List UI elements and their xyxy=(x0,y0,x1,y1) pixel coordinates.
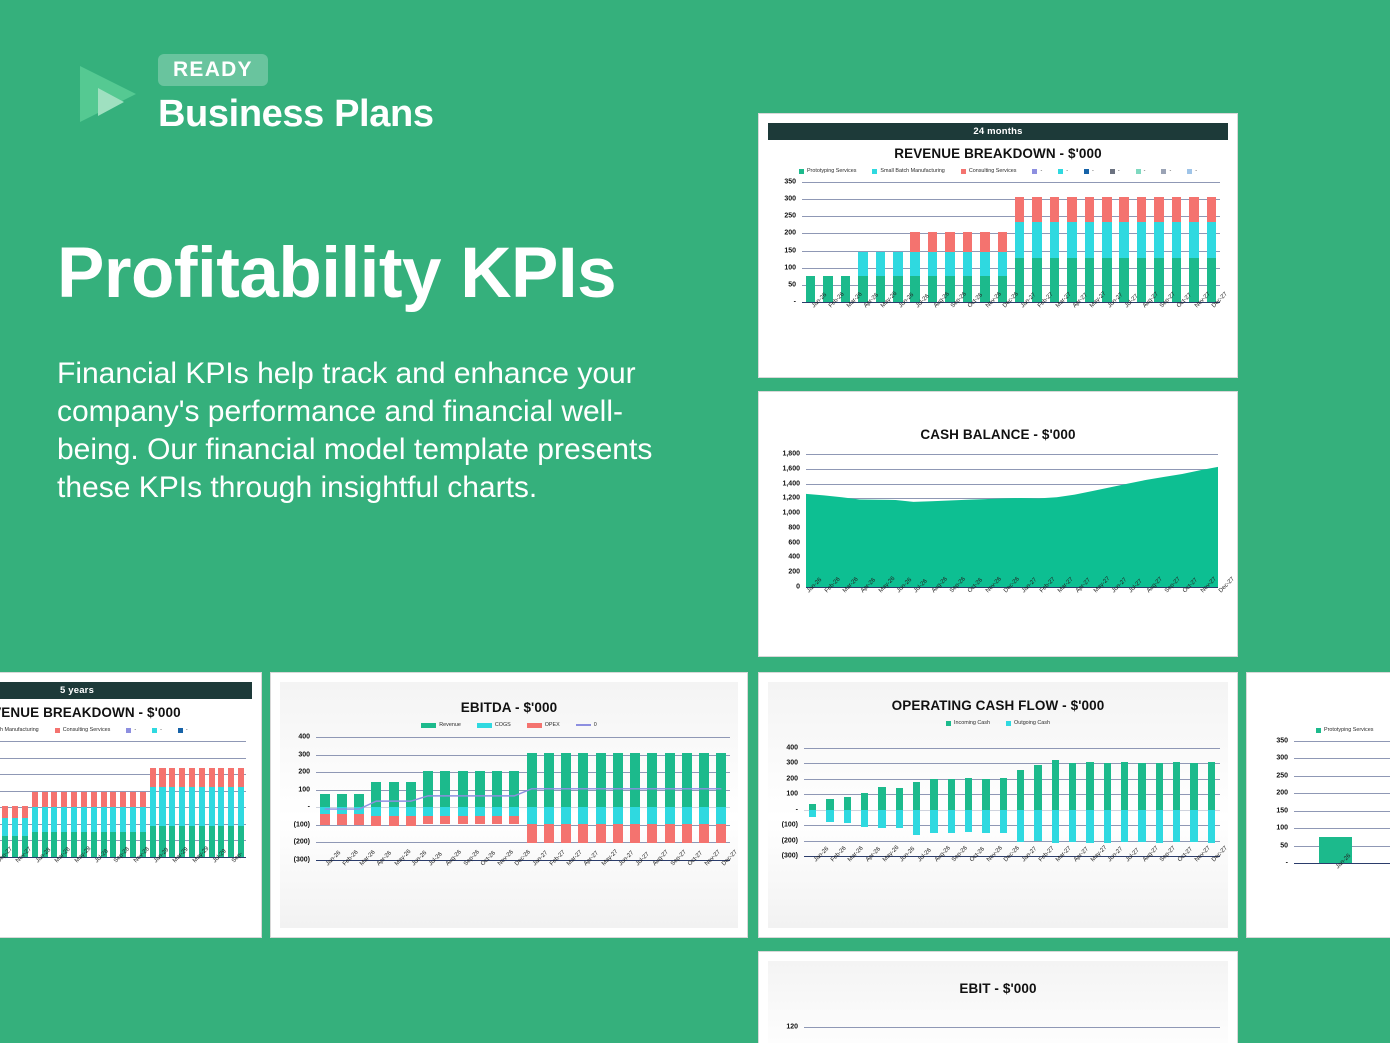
chart-bar-segment xyxy=(561,807,571,824)
chart-bar-segment xyxy=(423,816,433,824)
legend-item[interactable]: Prototyping Services xyxy=(799,168,856,174)
chart-bar-segment xyxy=(1208,810,1215,843)
chart-bar-segment xyxy=(1052,760,1059,809)
legend-color-swatch xyxy=(477,723,492,728)
chart-bar-segment xyxy=(1104,810,1111,843)
chart-bar-segment xyxy=(91,807,97,832)
y-axis-tick-label: 200 xyxy=(1256,790,1288,797)
chart-bar-segment xyxy=(878,787,885,810)
x-axis-tick-label: Mar-27 xyxy=(566,850,584,868)
panel-revenue-breakdown-24months[interactable]: 24 months REVENUE BREAKDOWN - $'000 Prot… xyxy=(758,113,1238,378)
chart-bar-segment xyxy=(613,807,623,824)
legend-item[interactable]: Prototyping Services xyxy=(1316,727,1373,733)
x-axis-tick-label: Apr-27 xyxy=(583,850,600,867)
chart-bar-segment xyxy=(12,818,18,835)
chart-bar-segment xyxy=(876,252,886,276)
panel-revenue-breakdown-partial[interactable]: Prototyping Services -501001502002503003… xyxy=(1246,672,1390,938)
chart-plot-revenue-5y: -27Mar-27May-27Jul-27Sep-27Nov-27Jan-28M… xyxy=(0,735,252,903)
chart-bar-segment xyxy=(945,252,955,276)
legend-label: - xyxy=(1169,168,1171,174)
chart-bar-segment xyxy=(209,826,215,857)
chart-bar-segment xyxy=(120,807,126,832)
legend-color-swatch xyxy=(55,728,60,733)
chart-bar-segment xyxy=(596,824,606,843)
chart-bar-segment xyxy=(561,753,571,807)
y-axis-tick-label: (200) xyxy=(280,839,310,846)
chart-bar-segment xyxy=(42,792,48,807)
x-axis-tick-label: Mar-27 xyxy=(1055,846,1073,864)
chart-gridline xyxy=(1294,758,1390,759)
chart-gridline xyxy=(1294,776,1390,777)
chart-bar-segment xyxy=(406,816,416,826)
legend-item[interactable]: - xyxy=(1136,168,1146,174)
chart-bar-segment xyxy=(963,252,973,276)
legend-item[interactable]: OPEX xyxy=(527,722,560,728)
chart-bar-segment xyxy=(199,768,205,788)
legend-label: - xyxy=(1118,168,1120,174)
chart-bar-segment xyxy=(647,807,657,824)
legend-item[interactable]: Revenue xyxy=(421,722,461,728)
legend-item[interactable]: Consulting Services xyxy=(961,168,1017,174)
chart-bar-segment xyxy=(1000,778,1007,810)
x-axis-tick-label: Dec-26 xyxy=(514,849,532,867)
y-axis-tick-label: 350 xyxy=(1256,738,1288,745)
legend-line-swatch xyxy=(576,724,591,726)
legend-color-swatch xyxy=(1316,728,1321,733)
x-axis-tick-label: Jan-27 xyxy=(1021,846,1038,863)
chart-bar-segment xyxy=(806,276,816,302)
chart-bar-segment xyxy=(71,792,77,807)
chart-bar-segment xyxy=(596,807,606,824)
legend-item[interactable]: Consulting Services xyxy=(55,727,111,733)
chart-bar-segment xyxy=(110,807,116,832)
chart-bar-segment xyxy=(509,816,519,824)
chart-bar-segment xyxy=(682,824,692,843)
chart-title-revenue-5y: REVENUE BREAKDOWN - $'000 xyxy=(0,705,252,720)
y-axis-tick-label: 400 xyxy=(768,745,798,752)
chart-bar-segment xyxy=(1207,222,1217,258)
panel-cash-balance[interactable]: CASH BALANCE - $'000 02004006008001,0001… xyxy=(758,391,1238,657)
chart-bar-segment xyxy=(630,753,640,807)
chart-gridline xyxy=(804,748,1220,749)
chart-bar-segment xyxy=(527,753,537,807)
legend-item[interactable]: - xyxy=(1187,168,1197,174)
chart-bar-segment xyxy=(980,232,990,252)
chart-bar-segment xyxy=(509,807,519,815)
chart-bar-segment xyxy=(613,753,623,807)
x-axis-tick-label: Jun-26 xyxy=(411,850,428,867)
legend-label: - xyxy=(1144,168,1146,174)
chart-gridline xyxy=(0,758,246,759)
x-axis-tick-label: Sep-26 xyxy=(951,845,969,863)
legend-label: Consulting Services xyxy=(969,168,1017,174)
chart-bar-segment xyxy=(12,836,18,857)
legend-item[interactable]: Small Batch Manufacturing xyxy=(0,727,39,733)
y-axis-tick-label: 200 xyxy=(768,775,798,782)
chart-bar-segment xyxy=(61,807,67,832)
legend-label: Prototyping Services xyxy=(807,168,856,174)
chart-bar-segment xyxy=(406,807,416,815)
chart-bar-segment xyxy=(150,787,156,825)
chart-bar-segment xyxy=(1172,222,1182,258)
legend-label: Consulting Services xyxy=(63,727,111,733)
chart-bar-segment xyxy=(238,787,244,825)
chart-bar-segment xyxy=(458,816,468,824)
legend-label: Revenue xyxy=(439,722,461,728)
legend-item[interactable]: - xyxy=(178,727,188,733)
legend-color-swatch xyxy=(1084,169,1089,174)
chart-bar-segment xyxy=(492,771,502,807)
chart-bar-segment xyxy=(613,824,623,843)
chart-bar-segment xyxy=(1000,810,1007,833)
chart-bar-segment xyxy=(32,807,38,832)
legend-item[interactable]: - xyxy=(1161,168,1171,174)
chart-bar-segment xyxy=(492,807,502,815)
chart-bar-segment xyxy=(896,810,903,828)
chart-bar-segment xyxy=(1119,197,1129,222)
period-label-24-months: 24 months xyxy=(768,123,1228,140)
x-axis-tick-label: Jan-26 xyxy=(325,850,342,867)
legend-item[interactable]: - xyxy=(126,727,136,733)
chart-bar-segment xyxy=(406,782,416,807)
chart-bar-segment xyxy=(1015,197,1025,222)
chart-bar-segment xyxy=(51,792,57,807)
chart-plot-ebit: 80100120Jan-27Feb-27Mar-27Apr-27May-27Ju… xyxy=(768,978,1228,1043)
chart-bar-segment xyxy=(913,810,920,835)
chart-bar-segment xyxy=(423,771,433,807)
hero-body-text: Financial KPIs help track and enhance yo… xyxy=(57,355,657,507)
chart-plot-cash-balance: 02004006008001,0001,2001,4001,6001,800Ja… xyxy=(768,450,1228,635)
panel-ebit[interactable]: EBIT - $'000 80100120Jan-27Feb-27Mar-27A… xyxy=(758,951,1238,1043)
chart-bar-segment xyxy=(982,810,989,833)
chart-bar-segment xyxy=(130,832,136,857)
chart-bar-segment xyxy=(578,807,588,824)
y-axis-tick-label: - xyxy=(280,804,310,811)
y-axis-tick-label: 250 xyxy=(1256,772,1288,779)
y-axis-tick-label: (100) xyxy=(768,822,798,829)
chart-bar-segment xyxy=(699,807,709,824)
x-axis-tick-label: Feb-27 xyxy=(549,850,567,868)
x-axis-tick-label: Jan-27 xyxy=(532,850,549,867)
chart-bar-segment xyxy=(716,753,726,807)
x-axis-tick-label: Dec-27 xyxy=(1211,845,1229,863)
chart-bar-segment xyxy=(930,779,937,810)
chart-gridline xyxy=(316,737,730,738)
x-axis-tick-label: Aug-27 xyxy=(1142,845,1160,863)
y-axis-tick-label: (200) xyxy=(768,837,798,844)
chart-bar-segment xyxy=(101,792,107,807)
legend-item[interactable]: 0 xyxy=(576,722,597,728)
legend-label: - xyxy=(134,727,136,733)
y-axis-tick-label: (300) xyxy=(280,857,310,864)
legend-color-swatch xyxy=(1058,169,1063,174)
x-axis-tick-label: Sep-27 xyxy=(670,849,688,867)
x-axis-tick-label: Nov-26 xyxy=(497,849,515,867)
chart-bar-segment xyxy=(1173,762,1180,810)
x-axis-tick-label: Aug-26 xyxy=(934,845,952,863)
chart-bar-segment xyxy=(91,792,97,807)
chart-bar-segment xyxy=(354,814,364,825)
chart-bar-segment xyxy=(492,816,502,824)
chart-bar-segment xyxy=(389,816,399,826)
x-axis-tick-label: Jun-26 xyxy=(899,846,916,863)
y-axis-tick-label: 150 xyxy=(1256,807,1288,814)
chart-bar-segment xyxy=(337,814,347,825)
chart-bar-segment xyxy=(965,810,972,833)
chart-bar-segment xyxy=(578,753,588,807)
chart-bar-segment xyxy=(228,787,234,825)
chart-bar-segment xyxy=(42,807,48,832)
y-axis-tick-label: 150 xyxy=(768,247,796,254)
chart-gridline xyxy=(0,741,246,742)
chart-bar-segment xyxy=(189,787,195,825)
chart-plot-ebitda: (300)(200)(100)-100200300400Jan-26Feb-26… xyxy=(280,731,738,906)
chart-bar-segment xyxy=(320,807,330,814)
chart-bar-segment xyxy=(1085,197,1095,222)
chart-bar-segment xyxy=(596,753,606,807)
x-axis-tick-label: Sep-26 xyxy=(463,849,481,867)
chart-bar-segment xyxy=(51,832,57,857)
chart-bar-segment xyxy=(1085,222,1095,258)
legend-label: - xyxy=(1092,168,1094,174)
chart-bar-segment xyxy=(169,787,175,825)
x-axis-tick-label: Jun-27 xyxy=(618,850,635,867)
x-axis-tick-label: Oct-26 xyxy=(969,846,986,863)
chart-bar-segment xyxy=(81,807,87,832)
chart-bar-segment xyxy=(1138,763,1145,810)
x-axis-tick-label: Feb-27 xyxy=(1038,846,1056,864)
chart-bar-segment xyxy=(948,779,955,810)
x-axis-tick-label: Apr-26 xyxy=(376,850,393,867)
chart-bar-segment xyxy=(475,771,485,807)
chart-bar-segment xyxy=(1173,810,1180,842)
chart-bar-segment xyxy=(1189,197,1199,222)
legend-color-swatch xyxy=(1161,169,1166,174)
chart-bar-segment xyxy=(1190,810,1197,843)
chart-bar-segment xyxy=(527,807,537,824)
legend-item[interactable]: - xyxy=(1032,168,1042,174)
legend-color-swatch xyxy=(1136,169,1141,174)
x-axis-tick-label: Nov-27 xyxy=(704,849,722,867)
legend-item[interactable]: Small Batch Manufacturing xyxy=(872,168,944,174)
legend-label: - xyxy=(1195,168,1197,174)
chart-bar-segment xyxy=(2,818,8,835)
y-axis-tick-label: - xyxy=(768,806,798,813)
x-axis-tick-label: Aug-27 xyxy=(652,849,670,867)
y-axis-tick-label: 50 xyxy=(1256,842,1288,849)
cash-balance-area-series xyxy=(768,450,1228,635)
y-axis-tick-label: 50 xyxy=(768,281,796,288)
chart-bar-segment xyxy=(1086,810,1093,843)
x-axis-tick-label: Feb-26 xyxy=(830,846,848,864)
chart-bar-segment xyxy=(928,252,938,276)
y-axis-tick-label: 100 xyxy=(768,264,796,271)
chart-bar-segment xyxy=(844,810,851,823)
x-axis-tick-label: Mar-26 xyxy=(359,850,377,868)
play-triangle-icon xyxy=(72,58,144,130)
chart-bar-segment xyxy=(320,794,330,807)
chart-legend-revenue-24m: Prototyping ServicesSmall Batch Manufact… xyxy=(768,168,1228,174)
legend-label: Small Batch Manufacturing xyxy=(0,727,39,733)
chart-bar-segment xyxy=(930,810,937,833)
chart-bar-segment xyxy=(150,768,156,788)
legend-item[interactable]: - xyxy=(1110,168,1120,174)
chart-bar-segment xyxy=(371,782,381,807)
chart-bar-segment xyxy=(159,787,165,825)
chart-bar-segment xyxy=(1086,762,1093,810)
chart-bar-segment xyxy=(1015,222,1025,258)
chart-bar-segment xyxy=(998,232,1008,252)
legend-color-swatch xyxy=(1187,169,1192,174)
chart-bar-segment xyxy=(91,832,97,857)
chart-bar-segment xyxy=(1119,222,1129,258)
chart-bar-segment xyxy=(389,807,399,815)
x-axis-tick-label: Dec-27 xyxy=(721,849,739,867)
chart-bar-segment xyxy=(630,807,640,824)
chart-bar-segment xyxy=(878,810,885,828)
chart-bar-segment xyxy=(179,768,185,788)
chart-bar-segment xyxy=(354,794,364,807)
chart-bar-segment xyxy=(965,778,972,810)
legend-color-swatch xyxy=(126,728,131,733)
chart-gridline xyxy=(1294,828,1390,829)
chart-bar-segment xyxy=(826,799,833,810)
chart-bar-segment xyxy=(893,252,903,276)
chart-bar-segment xyxy=(475,807,485,815)
chart-bar-segment xyxy=(32,832,38,857)
panel-operating-cash-flow[interactable]: OPERATING CASH FLOW - $'000 Incoming Cas… xyxy=(758,672,1238,938)
panel-ebitda[interactable]: EBITDA - $'000 RevenueCOGSOPEX0 (300)(20… xyxy=(270,672,748,938)
legend-item[interactable]: - xyxy=(1058,168,1068,174)
chart-bar-segment xyxy=(1189,222,1199,258)
chart-bar-segment xyxy=(440,771,450,807)
chart-bar-segment xyxy=(1154,222,1164,258)
chart-bar-segment xyxy=(1190,763,1197,809)
y-axis-tick-label: 100 xyxy=(280,786,310,793)
y-axis-tick-label: 350 xyxy=(768,179,796,186)
chart-bar-segment xyxy=(440,807,450,815)
legend-color-swatch xyxy=(799,169,804,174)
legend-label: Small Batch Manufacturing xyxy=(880,168,944,174)
chart-legend-partial: Prototyping Services xyxy=(1256,727,1390,733)
chart-bar-segment xyxy=(1138,810,1145,843)
chart-bar-segment xyxy=(159,768,165,788)
chart-bar-segment xyxy=(561,824,571,843)
chart-bar-segment xyxy=(475,816,485,824)
legend-label: - xyxy=(186,727,188,733)
x-axis-tick-label: Apr-27 xyxy=(1073,846,1090,863)
chart-bar-segment xyxy=(1067,222,1077,258)
chart-bar-segment xyxy=(1137,222,1147,258)
legend-color-swatch xyxy=(961,169,966,174)
chart-bar-segment xyxy=(130,807,136,832)
panel-revenue-breakdown-5years[interactable]: 5 years REVENUE BREAKDOWN - $'000 Small … xyxy=(0,672,262,938)
legend-color-swatch xyxy=(152,728,157,733)
chart-gridline xyxy=(1294,741,1390,742)
chart-bar-segment xyxy=(1102,222,1112,258)
x-axis-tick-label: Oct-27 xyxy=(1177,846,1194,863)
chart-bar-segment xyxy=(189,826,195,857)
chart-legend-ebitda: RevenueCOGSOPEX0 xyxy=(280,722,738,728)
chart-bar-segment xyxy=(699,753,709,807)
chart-bar-segment xyxy=(682,753,692,807)
chart-bar-segment xyxy=(2,806,8,818)
chart-bar-segment xyxy=(199,787,205,825)
chart-bar-segment xyxy=(218,768,224,788)
chart-bar-segment xyxy=(716,807,726,824)
chart-bar-segment xyxy=(1032,197,1042,222)
legend-color-swatch xyxy=(178,728,183,733)
chart-bar-segment xyxy=(354,807,364,814)
chart-bar-segment xyxy=(716,824,726,843)
legend-color-swatch xyxy=(1032,169,1037,174)
y-axis-tick-label: 100 xyxy=(768,791,798,798)
chart-bar-segment xyxy=(458,807,468,815)
chart-bar-segment xyxy=(1050,197,1060,222)
legend-item[interactable]: - xyxy=(1084,168,1094,174)
chart-title-cash-balance: CASH BALANCE - $'000 xyxy=(768,427,1228,442)
y-axis-tick-label: 400 xyxy=(280,734,310,741)
chart-bar-segment xyxy=(910,252,920,276)
chart-bar-segment xyxy=(209,768,215,788)
chart-bar-segment xyxy=(1032,222,1042,258)
y-axis-tick-label: 200 xyxy=(280,769,310,776)
chart-bar-segment xyxy=(150,826,156,857)
x-axis-tick-label: Aug-26 xyxy=(445,849,463,867)
chart-bar-segment xyxy=(320,814,330,825)
chart-bar-segment xyxy=(665,824,675,843)
chart-bar-segment xyxy=(140,807,146,832)
chart-bar-segment xyxy=(1121,762,1128,810)
y-axis-tick-label: (300) xyxy=(768,853,798,860)
y-axis-tick-label: - xyxy=(768,299,796,306)
legend-item[interactable]: COGS xyxy=(477,722,511,728)
y-axis-tick-label: - xyxy=(1256,860,1288,867)
chart-bar-segment xyxy=(945,232,955,252)
chart-bar-segment xyxy=(826,810,833,822)
x-axis-tick-label: Dec-26 xyxy=(1003,845,1021,863)
chart-bar-segment xyxy=(1017,810,1024,843)
legend-color-swatch xyxy=(1110,169,1115,174)
legend-item[interactable]: - xyxy=(152,727,162,733)
chart-bar-segment xyxy=(169,768,175,788)
chart-bar-segment xyxy=(544,824,554,843)
period-label-5-years: 5 years xyxy=(0,682,252,699)
chart-bar-segment xyxy=(913,782,920,809)
chart-bar-segment xyxy=(169,826,175,857)
chart-bar-segment xyxy=(71,832,77,857)
legend-color-swatch xyxy=(872,169,877,174)
legend-label: - xyxy=(160,727,162,733)
chart-bar-segment xyxy=(578,824,588,843)
chart-bar-segment xyxy=(209,787,215,825)
chart-bar-segment xyxy=(423,807,433,815)
x-axis-tick-label: May-27 xyxy=(1090,845,1108,863)
legend-color-swatch xyxy=(527,723,542,728)
chart-bar-segment xyxy=(647,824,657,843)
chart-bar-segment xyxy=(1154,197,1164,222)
chart-bar-segment xyxy=(371,816,381,826)
chart-bar-segment xyxy=(337,794,347,807)
legend-label: Prototyping Services xyxy=(1324,727,1373,733)
chart-title-operating-cash-flow: OPERATING CASH FLOW - $'000 xyxy=(768,698,1228,713)
y-axis-tick-label: 100 xyxy=(1256,825,1288,832)
chart-bar-segment xyxy=(1034,810,1041,842)
chart-gridline xyxy=(1294,811,1390,812)
chart-bar-segment xyxy=(71,807,77,832)
chart-bar-segment xyxy=(101,807,107,832)
chart-bar-segment xyxy=(458,771,468,807)
